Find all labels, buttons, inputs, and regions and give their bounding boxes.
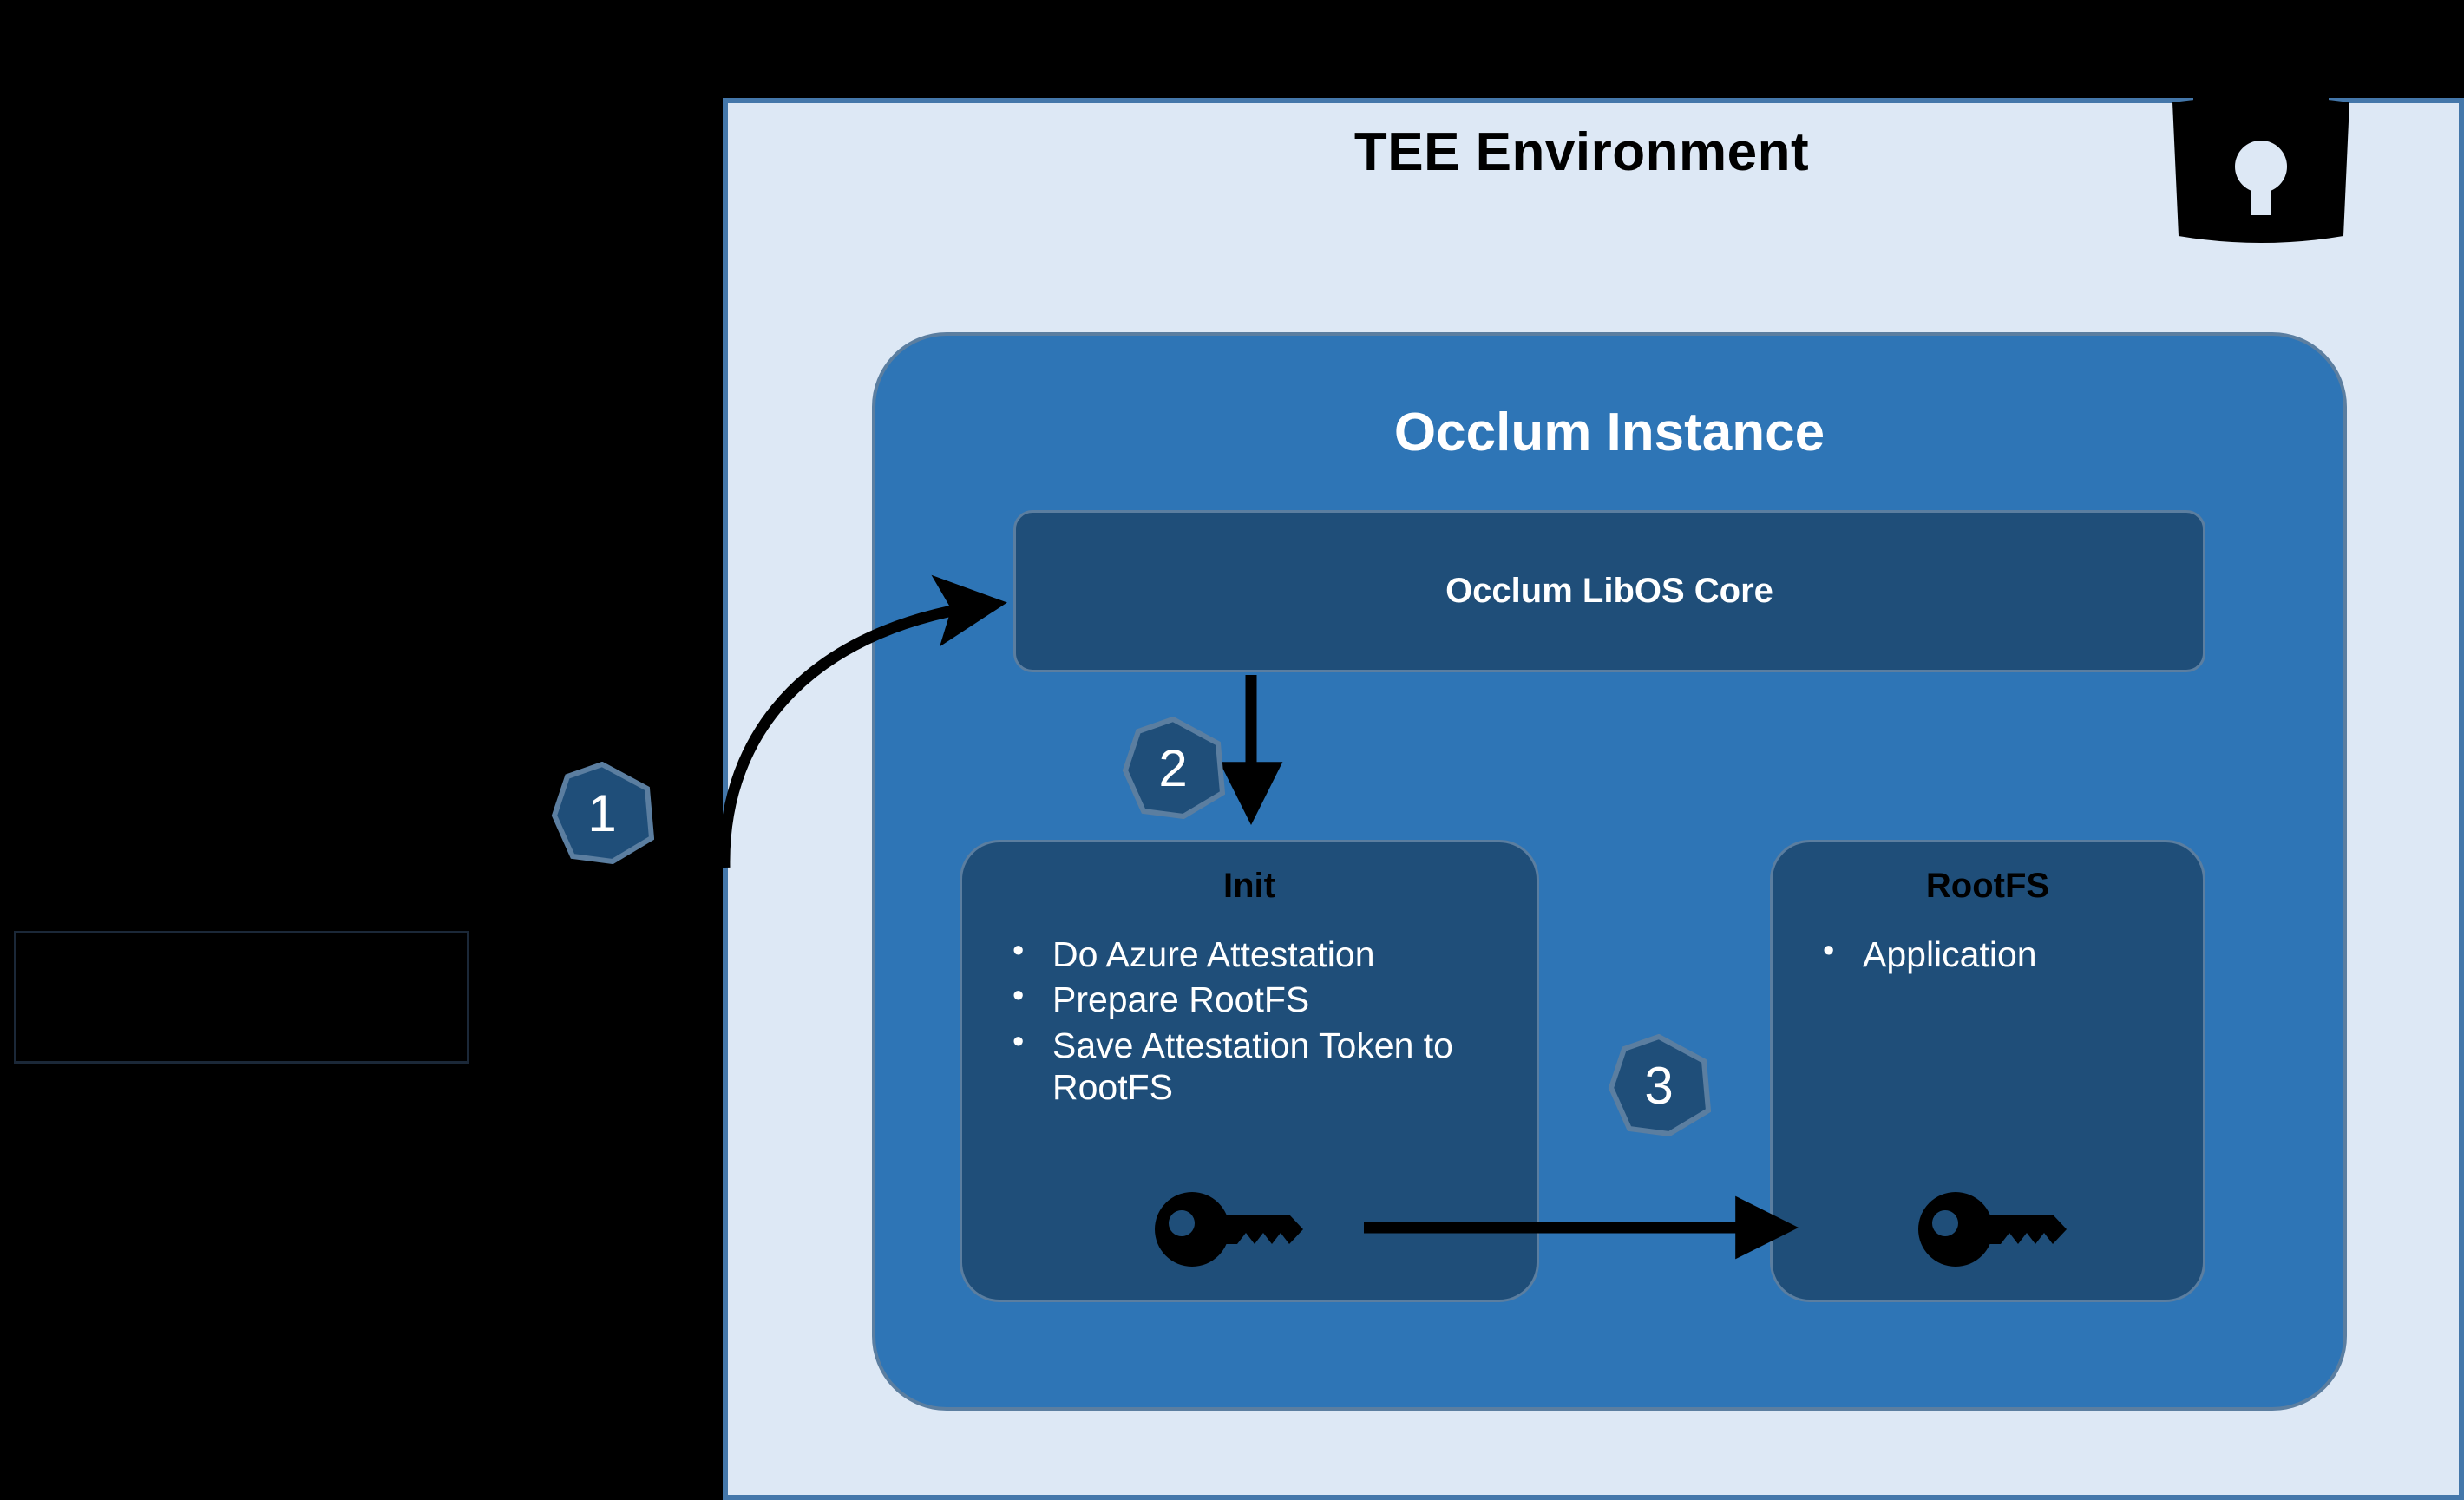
occlum-libos-core-box: Occlum LibOS Core — [1013, 510, 2205, 672]
empty-outlined-box — [14, 931, 469, 1064]
step-badge-3: 3 — [1607, 1034, 1711, 1136]
list-item: Save Attestation Token to RootFS — [997, 1025, 1524, 1109]
step-badge-2-label: 2 — [1121, 717, 1225, 819]
occlum-libos-core-label: Occlum LibOS Core — [1445, 572, 1773, 611]
occlum-instance-title: Occlum Instance — [872, 402, 2347, 463]
diagram-canvas: TEE Environment Occlum Instance Occlum L… — [0, 0, 2464, 1500]
rootfs-title: RootFS — [1773, 867, 2203, 906]
init-title: Init — [962, 867, 1537, 906]
lock-icon — [2166, 0, 2356, 252]
list-item: Prepare RootFS — [997, 979, 1524, 1020]
list-item: Application — [1807, 933, 2191, 975]
key-icon — [1916, 1192, 2081, 1267]
step-badge-1: 1 — [550, 762, 654, 864]
rootfs-bullet-list: Application — [1807, 933, 2191, 979]
init-bullet-list: Do Azure Attestation Prepare RootFS Save… — [997, 933, 1524, 1112]
key-icon — [1152, 1192, 1317, 1267]
step-badge-3-label: 3 — [1607, 1034, 1711, 1136]
step-badge-2: 2 — [1121, 717, 1225, 819]
step-badge-1-label: 1 — [550, 762, 654, 864]
list-item: Do Azure Attestation — [997, 933, 1524, 975]
